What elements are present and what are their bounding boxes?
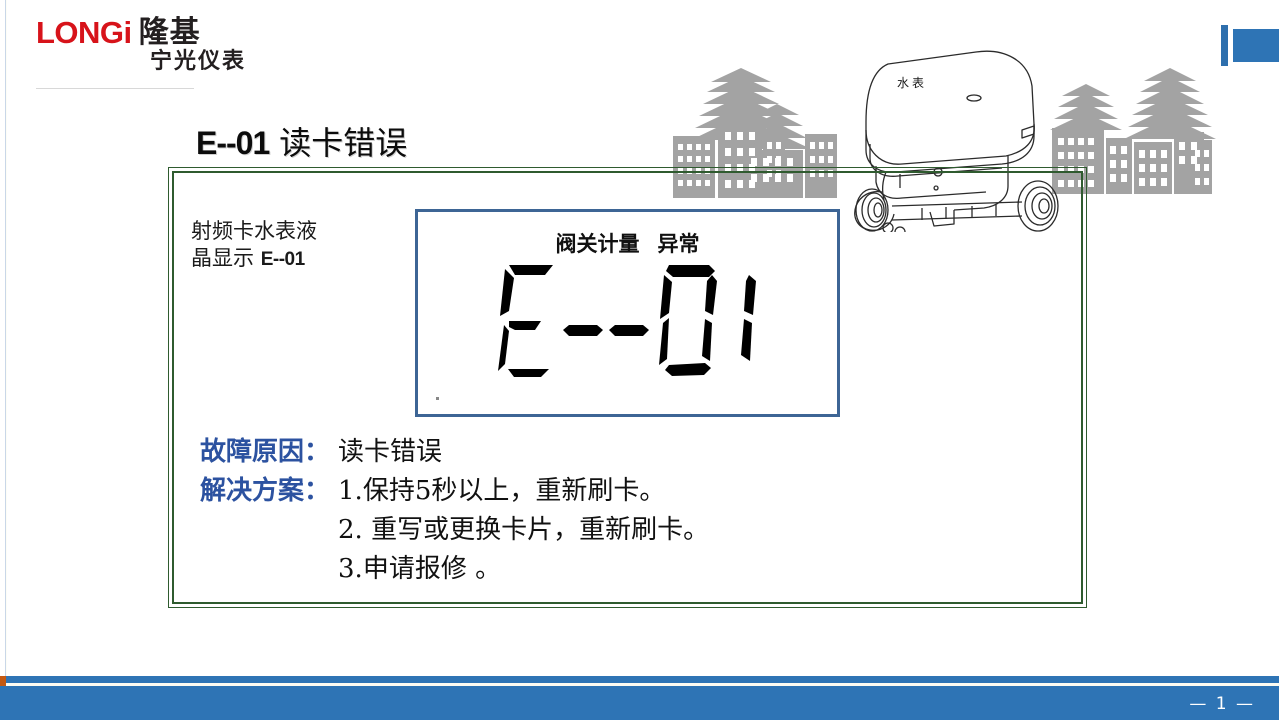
solution-label: 解决方案：	[200, 475, 330, 509]
logo-chinese-text: 隆基	[139, 18, 201, 48]
solution-item-3: 3.申请报修 。	[338, 553, 709, 587]
lcd-digit-row	[418, 260, 837, 380]
page-title-code: E--01	[196, 125, 269, 161]
logo-latin-text: LONGi	[36, 17, 132, 48]
seven-segment-digit-1	[723, 261, 761, 379]
footer-accent-tick	[0, 676, 6, 686]
lcd-status-valve: 阀关	[556, 232, 598, 256]
lcd-status-row: 阀关计量异常	[418, 228, 837, 258]
page-number: — 1 —	[1189, 694, 1255, 714]
fault-reason-row: 故障原因：读卡错误	[200, 437, 442, 469]
left-edge-rule-inner	[6, 0, 7, 676]
seven-segment-digit-E	[495, 261, 559, 379]
meter-device-label: 水表	[897, 74, 927, 91]
solution-list: 1.保持5秒以上，重新刷卡。 2. 重写或更换卡片，重新刷卡。 3.申请报修 。	[338, 475, 709, 591]
seven-segment-dash-1	[563, 261, 605, 379]
lcd-corner-dot	[436, 397, 439, 400]
seven-segment-dash-2	[609, 261, 651, 379]
footer-top-band	[0, 676, 1279, 683]
page-title-text: 读卡错误	[279, 124, 407, 162]
lcd-status-meter: 计量	[598, 232, 640, 256]
solution-item-2: 2. 重写或更换卡片，重新刷卡。	[338, 514, 709, 548]
brand-logo: LONGi 隆基 宁光仪表	[36, 12, 246, 82]
lcd-caption-line2: 晶显示 E--01	[191, 245, 381, 272]
page-title: E--01读卡错误	[196, 118, 407, 164]
fault-reason-label: 故障原因：	[200, 437, 330, 467]
logo-underline	[36, 88, 194, 89]
lcd-display-panel: 阀关计量异常	[415, 209, 840, 417]
lcd-caption-line1: 射频卡水表液	[191, 218, 381, 245]
seven-segment-digit-0	[655, 261, 719, 379]
corner-accent-rect	[1233, 29, 1279, 62]
lcd-status-error: 异常	[658, 232, 700, 256]
fault-reason-value: 读卡错误	[338, 437, 442, 467]
footer-band	[0, 686, 1279, 720]
corner-accent-bar	[1221, 25, 1228, 66]
logo-main-row: LONGi 隆基	[36, 12, 246, 48]
solution-row: 解决方案： 1.保持5秒以上，重新刷卡。 2. 重写或更换卡片，重新刷卡。 3.…	[200, 475, 709, 591]
solution-item-1: 1.保持5秒以上，重新刷卡。	[338, 475, 709, 509]
lcd-caption-prefix: 晶显示	[191, 246, 261, 270]
logo-subtitle: 宁光仪表	[36, 51, 246, 73]
lcd-caption-code: E--01	[261, 249, 305, 270]
slide-root: LONGi 隆基 宁光仪表	[0, 0, 1279, 720]
lcd-caption: 射频卡水表液 晶显示 E--01	[191, 218, 381, 272]
